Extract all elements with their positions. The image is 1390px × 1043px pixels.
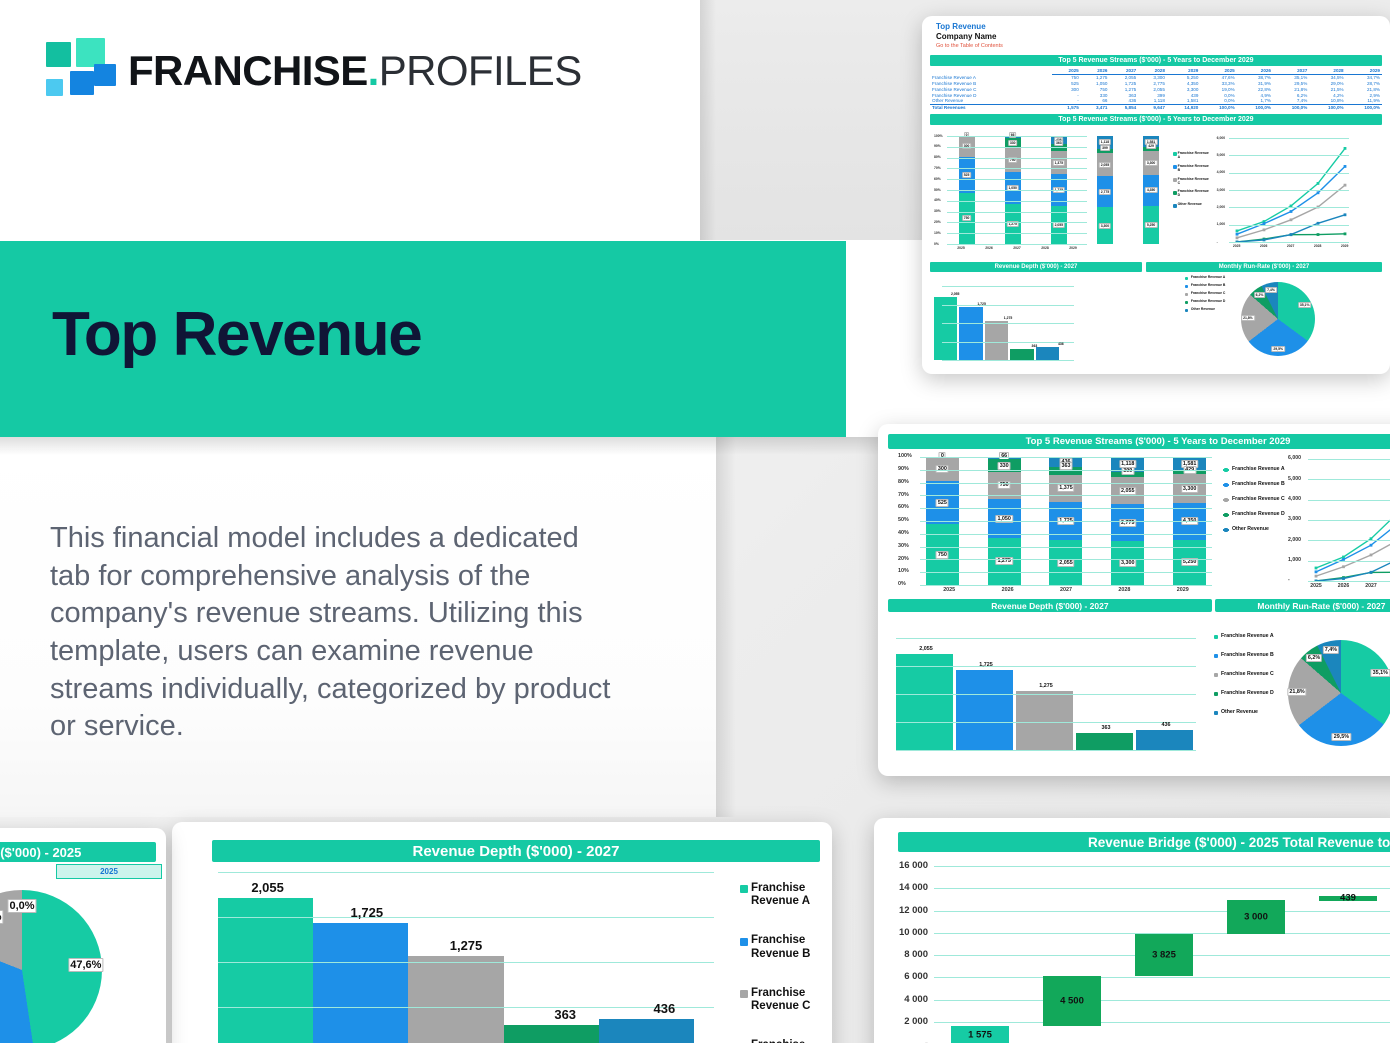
- waterfall-bar[interactable]: 439: [1319, 896, 1376, 901]
- gridline: [934, 1022, 1390, 1023]
- legend-swatch: [1214, 711, 1218, 715]
- waterfall-bar[interactable]: 4 500: [1043, 976, 1100, 1026]
- logo-square-2: [76, 38, 105, 67]
- gridline: [934, 888, 1390, 889]
- x-axis-tick-label: 2026: [1260, 244, 1268, 248]
- stacked-bar-segment: 1,275: [1005, 204, 1021, 244]
- table-total-percent: 100,0%: [1273, 104, 1309, 110]
- line-data-point: [1342, 565, 1345, 568]
- pie-slice-label: 35,1%: [1371, 669, 1390, 677]
- lower-charts-area: Franchise Revenue AFranchise Revenue BFr…: [878, 612, 1390, 772]
- legend-label: Franchise Revenue D: [1191, 300, 1225, 304]
- segment-value-label: 5,250: [1145, 222, 1158, 228]
- stacked-bar-column[interactable]: 1,1183992,0552,7753,300: [1097, 136, 1113, 244]
- gridline: [920, 457, 1212, 458]
- legend-marker: [1223, 514, 1229, 516]
- stacked-bar-segment: 1,275: [988, 538, 1021, 585]
- legend-item: Franchise Revenue D: [1214, 691, 1276, 697]
- legend-label: Franchise Revenue C: [1178, 178, 1211, 186]
- bar-value-label: 1,275: [1039, 683, 1053, 689]
- pie-slice-label: 21,8%: [1287, 688, 1306, 696]
- legend-item: Franchise Revenue B: [1175, 165, 1211, 173]
- line-data-point: [1315, 567, 1318, 570]
- revenue-depth-legend-large: Franchise Revenue AFranchise Revenue BFr…: [740, 882, 828, 1043]
- revenue-depth-card-title: Revenue Depth ($'000) - 2027: [212, 840, 820, 862]
- bar[interactable]: [934, 297, 957, 360]
- revenue-depth-chart-small[interactable]: 2,0551,7251,275363436: [930, 274, 1179, 366]
- legend-swatch: [1185, 301, 1188, 304]
- gridline: [920, 483, 1212, 484]
- pie-slice-label: 6,2%: [1254, 292, 1266, 298]
- y-axis-tick-label: 60%: [898, 504, 909, 510]
- legend-item: Franchise Revenue B: [1185, 284, 1227, 288]
- dashboard-card-revenue-depth[interactable]: Revenue Depth ($'000) - 2027 Franchise R…: [172, 822, 832, 1043]
- monthly-run-rate-2025-title: y Run-Rate ($'000) - 2025: [0, 842, 156, 862]
- stacked-bar-segment: 525: [959, 157, 975, 193]
- stacked-bar-segment: 1,375: [1049, 475, 1082, 503]
- x-axis-tick-label: 2026: [1002, 587, 1014, 593]
- pie-slice-label: 6,2%: [1306, 654, 1322, 662]
- monthly-run-rate-title-small: Monthly Run-Rate ($'000) - 2027: [1146, 262, 1382, 272]
- sheet-charts-row-1: 0300525750663307501,0501,2754363631,3751…: [930, 134, 1382, 264]
- gridline: [1229, 138, 1349, 139]
- y-axis-tick-label: 14 000: [882, 882, 928, 893]
- bar-value-label: 363: [1032, 344, 1038, 348]
- gridline: [942, 305, 1074, 306]
- legend-swatch: [740, 885, 748, 893]
- brand-logo[interactable]: FRANCHISE.PROFILES: [44, 38, 582, 104]
- segment-value-label: 363: [1059, 462, 1072, 470]
- legend-item: Other Revenue: [1185, 308, 1227, 312]
- gridline: [920, 572, 1212, 573]
- segment-value-label: 330: [998, 462, 1011, 470]
- gridline: [947, 201, 1087, 202]
- stacked-bar-column[interactable]: 1,5814293,3004,3505,250: [1143, 136, 1159, 244]
- legend-item: Franchise Revenue B: [1223, 482, 1285, 488]
- bar[interactable]: [985, 321, 1008, 360]
- y-axis-tick-label: 30%: [898, 543, 909, 549]
- gridline: [218, 917, 714, 918]
- legend-label: Other Revenue: [1232, 527, 1269, 533]
- line-data-point: [1289, 210, 1292, 213]
- gridline: [920, 508, 1212, 509]
- line-data-point: [1343, 232, 1346, 235]
- stacked-bar-segment: 3,300: [1173, 474, 1206, 502]
- legend-swatch: [740, 938, 748, 946]
- waterfall-value-label: 439: [1340, 893, 1356, 904]
- gridline: [1308, 540, 1390, 541]
- legend-label: Franchise Revenue A: [1178, 152, 1211, 160]
- line-data-point: [1235, 236, 1238, 239]
- line-data-point: [1343, 147, 1346, 150]
- gridline: [218, 962, 714, 963]
- bar-value-label: 1,275: [450, 938, 483, 953]
- bar-column[interactable]: [313, 872, 408, 1043]
- revenue-mix-pie-small[interactable]: Franchise Revenue AFranchise Revenue BFr…: [1183, 274, 1382, 366]
- gridline: [947, 190, 1087, 191]
- background-plate-top-left: [0, 0, 700, 240]
- monthly-run-rate-title: Monthly Run-Rate ($'000) - 2027: [1215, 599, 1390, 612]
- segment-value-label: 330: [1008, 140, 1018, 146]
- slide-canvas: FRANCHISE.PROFILES Top Revenue This fina…: [0, 0, 1390, 1043]
- y-axis-tick-label: -: [882, 1038, 928, 1043]
- stacked-bar-segment: 2,055: [1111, 477, 1144, 504]
- stacked-bar-segment: 1,050: [988, 499, 1021, 538]
- legend-swatch: [1185, 277, 1188, 280]
- table-total-value: 14,920: [1167, 104, 1200, 110]
- legend-label: Franchise Revenue C: [751, 987, 828, 1013]
- gridline: [942, 286, 1074, 287]
- legend-label: Other Revenue: [1178, 203, 1202, 207]
- y-axis-tick-label: 1,000: [1217, 222, 1226, 226]
- waterfall-bar[interactable]: 3 000: [1227, 900, 1284, 933]
- y-axis-tick-label: 8 000: [882, 949, 928, 960]
- bar-value-label: 436: [654, 1001, 676, 1016]
- y-axis-tick-label: 90%: [898, 466, 909, 472]
- gridline: [934, 911, 1390, 912]
- legend-label: Franchise Revenue B: [751, 934, 828, 960]
- gridline: [896, 694, 1196, 695]
- segment-value-label: 399: [1121, 467, 1134, 475]
- legend-item: Other Revenue: [1223, 527, 1285, 533]
- stacked-bar-segment: 5,250: [1143, 206, 1159, 244]
- bar[interactable]: [599, 1019, 694, 1043]
- legend-label: Franchise Revenue A: [1221, 634, 1274, 640]
- legend-swatch: [740, 990, 748, 998]
- pie-2025-plot: 2025 47,6%33,3%19,0%0,0%0,0%: [0, 862, 166, 1043]
- bar[interactable]: [956, 670, 1013, 751]
- segment-value-label: 363: [1054, 140, 1064, 146]
- line-data-point: [1235, 233, 1238, 236]
- line-data-point: [1316, 182, 1319, 185]
- x-axis-tick-label: 2026: [985, 246, 993, 250]
- hero-paragraph: This financial model includes a dedicate…: [50, 520, 616, 746]
- gridline: [896, 638, 1196, 639]
- bar[interactable]: [959, 307, 982, 360]
- dashboard-card-monthly-run-rate-2025[interactable]: y Run-Rate ($'000) - 2025 2025 47,6%33,3…: [0, 828, 166, 1043]
- legend-marker: [1223, 529, 1229, 531]
- gridline: [947, 244, 1087, 245]
- y-axis-tick-label: 5,000: [1217, 153, 1226, 157]
- bar[interactable]: [218, 898, 313, 1043]
- bar-value-label: 436: [1162, 722, 1171, 728]
- line-data-point: [1343, 165, 1346, 168]
- logo-square-3: [46, 79, 63, 96]
- y-axis-tick-label: 40%: [898, 530, 909, 536]
- segment-value-label: 3,300: [1181, 485, 1199, 493]
- legend-item: Franchise Revenue A: [1214, 634, 1276, 640]
- y-axis-tick-label: 100%: [898, 453, 912, 459]
- revenue-depth-title: Revenue Depth ($'000) - 2027: [888, 599, 1212, 612]
- y-axis-tick-label: 12 000: [882, 905, 928, 916]
- gridline: [1229, 242, 1349, 243]
- stacked-bar-segment: 2,055: [1097, 153, 1113, 176]
- x-axis-tick-label: 2025: [957, 246, 965, 250]
- stacked-bar-segment: 4,350: [1143, 175, 1159, 206]
- line-data-point: [1343, 184, 1346, 187]
- bar[interactable]: [504, 1025, 599, 1043]
- gridline: [1229, 225, 1349, 226]
- y-axis-tick-label: 3,000: [1288, 516, 1301, 522]
- legend-label: Franchise Revenue D: [751, 1039, 828, 1043]
- y-axis-tick-label: 5,000: [1288, 476, 1301, 482]
- table-total-value: 5,854: [1109, 104, 1138, 110]
- pie-slice-label: 0,0%: [7, 899, 36, 913]
- y-axis-tick-label: 60%: [934, 177, 941, 181]
- monthly-run-rate-line-chart-small[interactable]: -1,0002,0003,0004,0005,0006,000202520262…: [1215, 134, 1382, 264]
- background-divider-shadow-top: [700, 0, 716, 240]
- legend-label: Other Revenue: [1191, 308, 1215, 312]
- bar[interactable]: [1036, 347, 1059, 360]
- stacked-bar-segment: 3,300: [1143, 151, 1159, 175]
- segment-value-label: 4,350: [1145, 187, 1158, 193]
- dashboard-card-revenue-streams[interactable]: Top 5 Revenue Streams ($'000) - 5 Years …: [878, 424, 1390, 776]
- revenue-table-title: Top 5 Revenue Streams ($'000) - 5 Years …: [930, 55, 1382, 66]
- gridline: [920, 559, 1212, 560]
- gridline: [1229, 190, 1349, 191]
- legend-item: Franchise Revenue D: [1185, 300, 1227, 304]
- legend-item: Franchise Revenue D: [1175, 190, 1211, 198]
- legend-item: Franchise Revenue D: [740, 1039, 828, 1043]
- bar[interactable]: [1010, 349, 1033, 360]
- y-axis-tick-label: 50%: [934, 188, 941, 192]
- legend-item: Franchise Revenue C: [1175, 178, 1211, 186]
- gridline: [1229, 207, 1349, 208]
- x-axis-tick-label: 2028: [1041, 246, 1049, 250]
- bar-column[interactable]: [504, 872, 599, 1043]
- bar-value-label: 1,725: [977, 302, 986, 306]
- line-data-point: [1370, 554, 1373, 557]
- table-total-percent: 100,0%: [1309, 104, 1345, 110]
- y-axis-tick-label: 90%: [934, 144, 941, 148]
- legend-label: Franchise Revenue B: [1191, 284, 1225, 288]
- page-title: Top Revenue: [52, 304, 421, 366]
- line-data-point: [1315, 570, 1318, 573]
- waterfall-bar[interactable]: 3 825: [1135, 934, 1192, 977]
- stacked-chart-title: Top 5 Revenue Streams ($'000) - 5 Years …: [888, 434, 1390, 449]
- pie-slice-label: 19,0%: [0, 910, 4, 924]
- segment-value-label: 525: [962, 172, 972, 178]
- gridline: [920, 547, 1212, 548]
- gridline: [218, 1007, 714, 1008]
- x-axis-tick-label: 2029: [1177, 587, 1189, 593]
- logo-square-1: [46, 42, 71, 67]
- legend-item: Other Revenue: [1175, 203, 1211, 207]
- segment-value-label: 750: [962, 215, 972, 221]
- segment-value-label: 1,375: [1057, 484, 1075, 492]
- legend-label: Franchise Revenue A: [1191, 276, 1225, 280]
- bar-column[interactable]: [408, 872, 503, 1043]
- gridline: [942, 342, 1074, 343]
- legend-item: Franchise Revenue B: [1214, 653, 1276, 659]
- segment-value-label: 2,775: [1099, 189, 1112, 195]
- stacked-bar-chart-small[interactable]: 0300525750663307501,0501,2754363631,3751…: [930, 134, 1173, 264]
- logo-squares-icon: [44, 38, 110, 104]
- gridline: [947, 233, 1087, 234]
- line-data-point: [1262, 228, 1265, 231]
- legend-label: Franchise Revenue A: [751, 882, 828, 908]
- line-data-point: [1342, 556, 1345, 559]
- y-axis-tick-label: 2,000: [1288, 537, 1301, 543]
- waterfall-value-label: 1 575: [968, 1030, 992, 1041]
- y-axis-tick-label: 50%: [898, 517, 909, 523]
- legend-swatch: [1185, 285, 1188, 288]
- stacked-bar-chart-area: 0300525750663307501,0501,2754363631,3751…: [878, 449, 1390, 599]
- x-axis-tick-label: 2027: [1287, 244, 1295, 248]
- y-axis-tick-label: 6 000: [882, 971, 928, 982]
- gridline: [1308, 479, 1390, 480]
- y-axis-tick-label: 4,000: [1217, 170, 1226, 174]
- legend-label: Franchise Revenue B: [1232, 482, 1285, 488]
- segment-value-label: 525: [936, 499, 949, 507]
- segment-value-label: 1,375: [1053, 160, 1066, 166]
- logo-square-4: [70, 71, 94, 95]
- revenue-bridge-plot: -2 0004 0006 0008 00010 00012 00014 0001…: [874, 852, 1390, 1043]
- y-axis-tick-label: 10%: [898, 568, 909, 574]
- y-axis-tick-label: 4,000: [1288, 496, 1301, 502]
- legend-swatch: [1214, 635, 1218, 639]
- pie-slice-label: 7,4%: [1323, 646, 1339, 654]
- background-divider-shadow-mid: [716, 437, 736, 817]
- bar-column[interactable]: [599, 872, 694, 1043]
- legend-swatch: [1214, 692, 1218, 696]
- gridline: [947, 179, 1087, 180]
- x-axis-tick-label: 2025: [1233, 244, 1241, 248]
- logo-square-5: [94, 64, 116, 86]
- waterfall-value-label: 4 500: [1060, 996, 1084, 1007]
- dashboard-card-revenue-bridge[interactable]: Revenue Bridge ($'000) - 2025 Total Reve…: [874, 818, 1390, 1043]
- legend-label: Franchise Revenue B: [1178, 165, 1211, 173]
- legend-item: Other Revenue: [1214, 710, 1276, 716]
- y-axis-tick-label: 40%: [934, 198, 941, 202]
- y-axis-tick-label: 70%: [898, 492, 909, 498]
- x-axis-tick-label: 2029: [1069, 246, 1077, 250]
- sub-chart-titles: Revenue Depth ($'000) - 2027 Monthly Run…: [888, 599, 1390, 612]
- y-axis-tick-label: 6,000: [1217, 136, 1226, 140]
- y-axis-tick-label: 6,000: [1288, 455, 1301, 461]
- y-axis-tick-label: 10%: [934, 231, 941, 235]
- segment-value-label: 2,775: [1119, 519, 1137, 527]
- dashboard-card-sheet-overview[interactable]: Top Revenue Company Name Go to the Table…: [922, 16, 1390, 374]
- line-data-point: [1289, 218, 1292, 221]
- brand-name-light: PROFILES: [379, 47, 582, 94]
- waterfall-value-label: 3 000: [1244, 912, 1268, 923]
- table-total-percent: 100,0%: [1346, 104, 1382, 110]
- bar[interactable]: [896, 654, 953, 750]
- bar-column[interactable]: [218, 872, 313, 1043]
- x-axis-tick-label: 2028: [1118, 587, 1130, 593]
- y-axis-tick-label: 2,000: [1217, 205, 1226, 209]
- revenue-table: 2025202620272028202920252026202720282029…: [930, 68, 1382, 110]
- y-axis-tick-label: 100%: [934, 134, 943, 138]
- bar[interactable]: [408, 956, 503, 1043]
- legend-item: Franchise Revenue A: [1175, 152, 1211, 160]
- sheet-charts-row-2: 2,0551,7251,275363436 Franchise Revenue …: [930, 274, 1382, 366]
- legend-label: Other Revenue: [1221, 710, 1258, 716]
- segment-value-label: 429: [1146, 143, 1156, 149]
- gridline: [947, 212, 1087, 213]
- line-data-point: [1315, 575, 1318, 578]
- bar[interactable]: [1136, 730, 1193, 750]
- gridline: [1308, 520, 1390, 521]
- legend-item: Franchise Revenue A: [1223, 467, 1285, 473]
- line-data-point: [1370, 544, 1373, 547]
- gridline: [1308, 581, 1390, 582]
- gridline: [218, 872, 714, 873]
- pie-slice-label: 7,4%: [1265, 287, 1277, 293]
- gridline: [947, 168, 1087, 169]
- bar-value-label: 1,275: [1004, 316, 1013, 320]
- legend-item: Franchise Revenue C: [740, 987, 828, 1013]
- x-axis-tick-label: 2027: [1060, 587, 1072, 593]
- bar[interactable]: [1016, 691, 1073, 751]
- y-axis-tick-label: 3,000: [1217, 188, 1226, 192]
- table-total-value: 9,647: [1138, 104, 1167, 110]
- y-axis-tick-label: 4 000: [882, 994, 928, 1005]
- legend-label: Franchise Revenue D: [1178, 190, 1211, 198]
- table-of-contents-link[interactable]: Go to the Table of Contents: [936, 42, 1390, 50]
- bar[interactable]: [1076, 733, 1133, 750]
- gridline: [920, 534, 1212, 535]
- revenue-bridge-title: Revenue Bridge ($'000) - 2025 Total Reve…: [898, 832, 1390, 852]
- gridline: [1229, 173, 1349, 174]
- stacked-bar-segment: 3,300: [1111, 541, 1144, 585]
- legend-label: Franchise Revenue D: [1232, 512, 1285, 518]
- gridline: [947, 158, 1087, 159]
- legend-item: Franchise Revenue D: [1223, 512, 1285, 518]
- y-axis-tick-label: 20%: [898, 556, 909, 562]
- y-axis-tick-label: 80%: [898, 479, 909, 485]
- revenue-depth-plot: Franchise Revenue AFranchise Revenue BFr…: [172, 862, 832, 1043]
- y-axis-tick-label: 2 000: [882, 1016, 928, 1027]
- table-total-value: 3,471: [1081, 104, 1110, 110]
- segment-value-label: 399: [1100, 145, 1110, 151]
- gridline: [934, 866, 1390, 867]
- waterfall-bar[interactable]: 1 575: [951, 1026, 1008, 1043]
- year-tab-2025[interactable]: 2025: [56, 864, 162, 879]
- x-axis-tick-label: 2026: [1338, 583, 1350, 589]
- stacked-bar-segment: 3,300: [1097, 207, 1113, 244]
- table-total-value: 1,575: [1052, 104, 1081, 110]
- legend-item: Franchise Revenue B: [740, 934, 828, 960]
- y-axis-tick-label: 16 000: [882, 860, 928, 871]
- stacked-bar-segment: 525: [926, 481, 959, 524]
- gridline: [920, 470, 1212, 471]
- gridline: [942, 360, 1074, 361]
- gridline: [1308, 500, 1390, 501]
- bar-value-label: 363: [554, 1007, 576, 1022]
- y-axis-tick-label: 30%: [934, 209, 941, 213]
- stacked-bar-segment: 2,775: [1097, 176, 1113, 207]
- line-data-point: [1316, 191, 1319, 194]
- bar-value-label: 2,055: [251, 880, 284, 895]
- stacked-chart-title-small: Top 5 Revenue Streams ($'000) - 5 Years …: [930, 114, 1382, 125]
- legend-marker: [1223, 484, 1229, 486]
- legend-item: Franchise Revenue C: [1223, 497, 1285, 503]
- legend-item: Franchise Revenue A: [740, 882, 828, 908]
- sheet-tab-title: Top Revenue: [936, 22, 1390, 32]
- revenue-depth-bars-large[interactable]: [218, 872, 714, 1043]
- bar[interactable]: [313, 923, 408, 1043]
- table-total-percent: 100,0%: [1237, 104, 1273, 110]
- x-axis-tick-label: 2025: [1310, 583, 1322, 589]
- y-axis-tick-label: 0%: [898, 581, 906, 587]
- stacked-bar-segment: 2,775: [1111, 504, 1144, 541]
- segment-value-label: 2,055: [1099, 162, 1112, 168]
- gridline: [896, 666, 1196, 667]
- legend-label: Franchise Revenue A: [1232, 467, 1285, 473]
- y-axis-tick-label: 10 000: [882, 927, 928, 938]
